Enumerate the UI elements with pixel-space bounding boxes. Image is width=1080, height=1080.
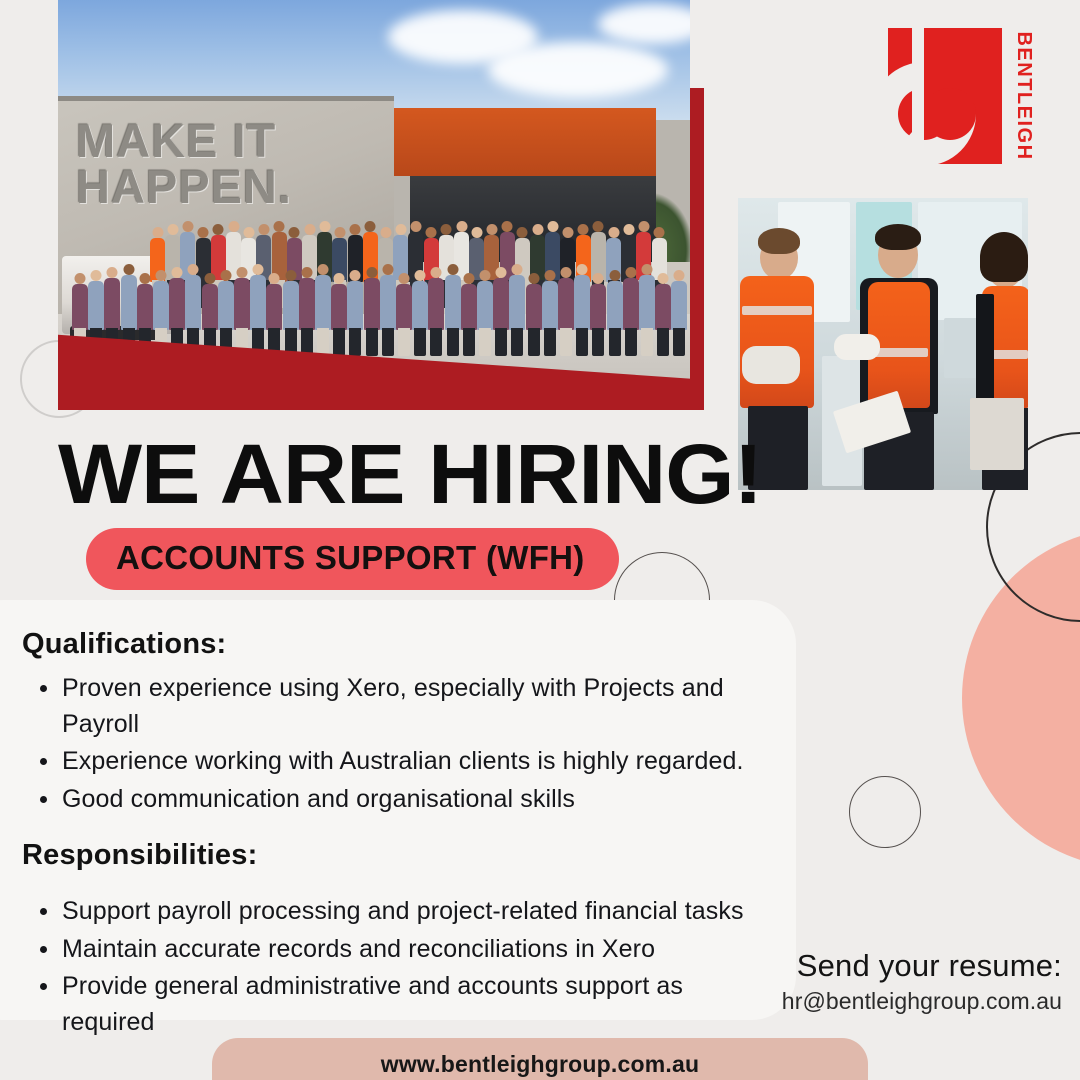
person-head bbox=[334, 273, 345, 284]
person-head bbox=[625, 267, 636, 278]
person-figure bbox=[412, 281, 428, 330]
person-figure bbox=[185, 275, 201, 330]
person-figure bbox=[493, 278, 509, 330]
person-figure bbox=[331, 284, 347, 330]
person-figure bbox=[234, 278, 250, 330]
person-head bbox=[642, 264, 653, 275]
person-figure bbox=[315, 275, 331, 330]
person-head bbox=[304, 224, 315, 235]
job-ad-poster: MAKE IT HAPPEN. BENTLEIGH bbox=[0, 0, 1080, 1080]
person-figure bbox=[607, 281, 623, 330]
responsibilities-heading: Responsibilities: bbox=[22, 839, 756, 872]
person-legs bbox=[398, 328, 410, 356]
person-legs bbox=[560, 328, 572, 356]
person-head bbox=[366, 267, 377, 278]
website-url[interactable]: www.bentleighgroup.com.au bbox=[381, 1051, 700, 1078]
person-hair bbox=[758, 228, 800, 254]
person-head bbox=[441, 224, 452, 235]
person-figure bbox=[153, 281, 169, 330]
person-hair bbox=[980, 232, 1028, 282]
resume-label: Send your resume: bbox=[782, 948, 1062, 984]
person-figure bbox=[88, 281, 104, 330]
person-figure bbox=[283, 281, 299, 330]
person-figure bbox=[364, 278, 380, 330]
person-head bbox=[544, 270, 555, 281]
person-figure bbox=[121, 275, 137, 330]
person-head bbox=[213, 224, 224, 235]
person-head bbox=[447, 264, 458, 275]
person-head bbox=[237, 267, 248, 278]
vest-reflective-stripe bbox=[742, 306, 812, 315]
person-legs bbox=[463, 328, 475, 356]
person-figure bbox=[639, 275, 655, 330]
person-head bbox=[395, 224, 406, 235]
responsibilities-list: Support payroll processing and project-r… bbox=[22, 894, 756, 1040]
person-figure bbox=[445, 275, 461, 330]
person-head bbox=[139, 273, 150, 284]
list-item: Maintain accurate records and reconcilia… bbox=[62, 932, 756, 968]
person-head bbox=[456, 221, 467, 232]
job-role-badge: ACCOUNTS SUPPORT (WFH) bbox=[86, 528, 619, 590]
person-head bbox=[319, 221, 330, 232]
person-head bbox=[512, 264, 523, 275]
person-legs bbox=[511, 328, 523, 356]
person-head bbox=[188, 264, 199, 275]
resume-email[interactable]: hr@bentleighgroup.com.au bbox=[782, 988, 1062, 1015]
person-legs bbox=[528, 328, 540, 356]
list-item: Provide general administrative and accou… bbox=[62, 969, 756, 1040]
person-legs bbox=[430, 328, 442, 356]
person-figure bbox=[623, 278, 639, 330]
person-head bbox=[562, 227, 573, 238]
person-arm bbox=[976, 294, 994, 414]
wall-engraved-text: MAKE IT HAPPEN. bbox=[76, 118, 376, 209]
person-head bbox=[220, 270, 231, 281]
person-head bbox=[593, 221, 604, 232]
list-item: Support payroll processing and project-r… bbox=[62, 894, 756, 930]
person-figure bbox=[671, 281, 687, 330]
person-figure bbox=[655, 284, 671, 330]
person-head bbox=[204, 273, 215, 284]
person-legs bbox=[641, 328, 653, 356]
person-head bbox=[365, 221, 376, 232]
person-head bbox=[269, 273, 280, 284]
person-head bbox=[91, 270, 102, 281]
person-head bbox=[182, 221, 193, 232]
person-head bbox=[75, 273, 86, 284]
person-figure bbox=[574, 275, 590, 330]
person-figure bbox=[250, 275, 266, 330]
person-head bbox=[289, 227, 300, 238]
hivis-vest bbox=[740, 276, 814, 408]
person-legs bbox=[544, 328, 556, 356]
person-head bbox=[167, 224, 178, 235]
team-hivis-photo bbox=[738, 198, 1028, 490]
person-legs bbox=[349, 328, 361, 356]
person-figure bbox=[428, 278, 444, 330]
person-head bbox=[380, 227, 391, 238]
job-details-card: Qualifications: Proven experience using … bbox=[0, 600, 796, 1020]
person-head bbox=[415, 270, 426, 281]
cloud-shape bbox=[488, 42, 668, 98]
person-head bbox=[431, 267, 442, 278]
person-head bbox=[528, 273, 539, 284]
logo-wordmark-text: BENTLEIGH bbox=[1013, 31, 1035, 160]
person-head bbox=[577, 264, 588, 275]
person-head bbox=[480, 270, 491, 281]
person-figure bbox=[218, 281, 234, 330]
qualifications-heading: Qualifications: bbox=[22, 628, 756, 661]
person-legs bbox=[317, 328, 329, 356]
person-figure bbox=[461, 284, 477, 330]
person-figure bbox=[104, 278, 120, 330]
staff-crowd bbox=[58, 196, 690, 348]
person-figure bbox=[558, 278, 574, 330]
person-head bbox=[228, 221, 239, 232]
bentleigh-b-logo: BENTLEIGH bbox=[878, 22, 1048, 170]
person-figure bbox=[477, 281, 493, 330]
person-head bbox=[578, 224, 589, 235]
person-head bbox=[658, 273, 669, 284]
person-head bbox=[399, 273, 410, 284]
person-legs bbox=[366, 328, 378, 356]
person-figure bbox=[266, 284, 282, 330]
person-head bbox=[593, 273, 604, 284]
person-legs bbox=[333, 328, 345, 356]
person-legs bbox=[479, 328, 491, 356]
person-head bbox=[334, 227, 345, 238]
person-head bbox=[496, 267, 507, 278]
person-head bbox=[107, 267, 118, 278]
list-item: Proven experience using Xero, especially… bbox=[62, 671, 756, 742]
person-head bbox=[123, 264, 134, 275]
person-head bbox=[638, 221, 649, 232]
person-head bbox=[609, 270, 620, 281]
person-head bbox=[532, 224, 543, 235]
person-legs bbox=[592, 328, 604, 356]
person-head bbox=[258, 224, 269, 235]
person-head bbox=[156, 270, 167, 281]
person-legs bbox=[576, 328, 588, 356]
red-vertical-accent-bar bbox=[690, 88, 704, 408]
list-item: Good communication and organisational sk… bbox=[62, 782, 756, 818]
person-figure bbox=[299, 278, 315, 330]
person-head bbox=[410, 221, 421, 232]
qualifications-list: Proven experience using Xero, especially… bbox=[22, 671, 756, 817]
person-hair bbox=[875, 224, 921, 250]
list-item: Experience working with Australian clien… bbox=[62, 744, 756, 780]
person-figure bbox=[202, 284, 218, 330]
clipboard bbox=[970, 398, 1024, 470]
person-figure bbox=[137, 284, 153, 330]
person-head bbox=[350, 270, 361, 281]
page-title: WE ARE HIRING! bbox=[58, 432, 762, 516]
person-head bbox=[172, 267, 183, 278]
person-figure bbox=[169, 278, 185, 330]
person-legs bbox=[625, 328, 637, 356]
person-head bbox=[285, 270, 296, 281]
person-head bbox=[517, 227, 528, 238]
person-head bbox=[654, 227, 665, 238]
person-legs bbox=[447, 328, 459, 356]
person-head bbox=[152, 227, 163, 238]
person-figure bbox=[347, 281, 363, 330]
person-legs bbox=[673, 328, 685, 356]
person-head bbox=[561, 267, 572, 278]
resume-contact-block: Send your resume: hr@bentleighgroup.com.… bbox=[782, 948, 1062, 1015]
person-head bbox=[426, 227, 437, 238]
person-legs bbox=[609, 328, 621, 356]
person-figure bbox=[542, 281, 558, 330]
person-legs bbox=[657, 328, 669, 356]
person-legs bbox=[382, 328, 394, 356]
outline-circle-small-decoration bbox=[849, 776, 921, 848]
website-footer-bar: www.bentleighgroup.com.au bbox=[212, 1038, 868, 1080]
person-figure bbox=[380, 275, 396, 330]
person-head bbox=[350, 224, 361, 235]
person-figure bbox=[526, 284, 542, 330]
person-figure bbox=[590, 284, 606, 330]
person-head bbox=[243, 227, 254, 238]
person-head bbox=[382, 264, 393, 275]
orange-building bbox=[394, 108, 656, 176]
person-head bbox=[547, 221, 558, 232]
person-legs bbox=[495, 328, 507, 356]
person-head bbox=[318, 264, 329, 275]
person-figure bbox=[72, 284, 88, 330]
person-head bbox=[674, 270, 685, 281]
pipe-fitting bbox=[742, 346, 800, 384]
person-legs bbox=[414, 328, 426, 356]
person-figure bbox=[509, 275, 525, 330]
person-head bbox=[301, 267, 312, 278]
person-head bbox=[253, 264, 264, 275]
person-head bbox=[623, 224, 634, 235]
person-head bbox=[471, 227, 482, 238]
pipe-fitting bbox=[834, 334, 880, 360]
person-head bbox=[274, 221, 285, 232]
person-head bbox=[608, 227, 619, 238]
person-head bbox=[463, 273, 474, 284]
person-head bbox=[198, 227, 209, 238]
person-head bbox=[486, 224, 497, 235]
person-head bbox=[502, 221, 513, 232]
person-figure bbox=[396, 284, 412, 330]
